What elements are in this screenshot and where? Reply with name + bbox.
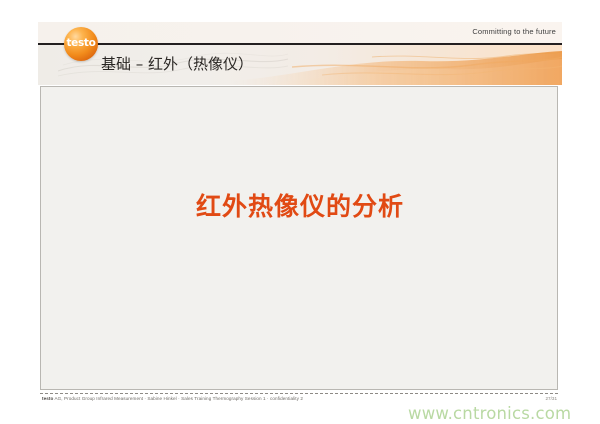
site-watermark: www.cntronics.com [408, 404, 571, 423]
footer-details: AG, Product Group Infrared Measurement ·… [53, 396, 303, 401]
slide-title-band: 基础 – 红外（热像仪） [38, 45, 562, 85]
footer-credits: testo AG, Product Group Infrared Measure… [42, 396, 303, 401]
footer-divider-rule [40, 393, 558, 394]
testo-logo: testo [64, 27, 98, 61]
page-number: 27/31 [546, 396, 558, 401]
main-heading: 红外热像仪的分析 [41, 187, 559, 223]
flame-decoration-icon [232, 45, 562, 85]
slide-title: 基础 – 红外（热像仪） [101, 53, 253, 74]
presentation-slide: Committing to the future testo [38, 22, 562, 412]
footer-brand: testo [42, 396, 53, 401]
logo-wordmark: testo [64, 38, 98, 49]
slide-content-area: 红外热像仪的分析 [40, 86, 558, 390]
company-tagline: Committing to the future [472, 27, 556, 36]
